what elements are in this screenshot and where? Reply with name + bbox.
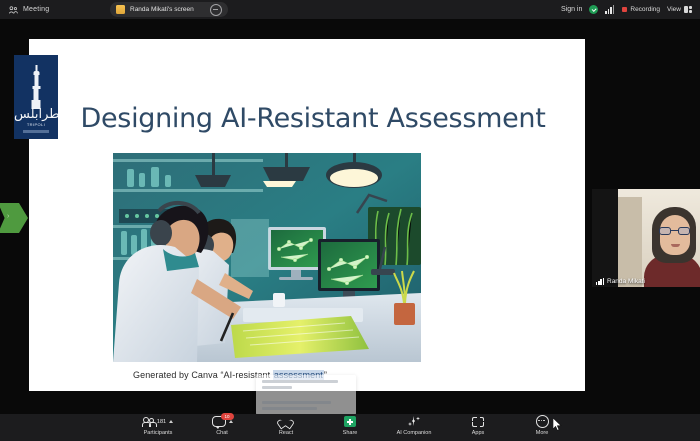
screen-share-icon: [116, 5, 125, 14]
chevron-up-icon[interactable]: [229, 420, 233, 423]
popup-line: [262, 380, 338, 383]
participants-label: Participants: [144, 430, 173, 436]
meeting-control-bar: 181 Participants 10 Chat React: [0, 414, 700, 441]
meeting-label-group: Meeting: [9, 1, 49, 19]
share-screen-icon: [344, 416, 356, 427]
popup-line: [262, 401, 331, 404]
participant-name: Randa Mikati: [607, 278, 645, 285]
share-button[interactable]: Share: [328, 415, 372, 436]
mouse-pointer: [553, 418, 561, 430]
more-icon-wrap: [536, 415, 549, 428]
heart-icon: [280, 417, 292, 427]
university-logo: طرابلس TRIPOLI: [14, 55, 58, 139]
video-left-shadow: [592, 189, 618, 287]
zoom-meeting-window: Meeting Randa Mikati's screen Sign in Re…: [0, 0, 700, 441]
share-label: Share: [343, 430, 358, 436]
record-indicator: [622, 7, 627, 12]
next-slide-arrow[interactable]: ›: [0, 203, 28, 233]
popup-line: [262, 407, 317, 410]
green-shield-check-icon[interactable]: [589, 5, 598, 14]
react-icon-wrap: [280, 415, 292, 428]
ai-companion-button[interactable]: AI Companion: [392, 415, 436, 436]
signal-bars-icon: [596, 278, 604, 285]
screen-share-chip[interactable]: Randa Mikati's screen: [110, 2, 228, 17]
participants-icon: [9, 1, 18, 19]
layout-view-icon: [684, 6, 692, 13]
sign-in-button[interactable]: Sign in: [561, 6, 582, 13]
meeting-label: Meeting: [23, 6, 49, 13]
meeting-top-bar: Meeting Randa Mikati's screen Sign in Re…: [0, 0, 700, 19]
top-bar-right-group: Sign in Recording View: [561, 0, 692, 19]
ai-companion-icon-wrap: [408, 415, 420, 428]
react-button[interactable]: React: [264, 415, 308, 436]
participant-name-bar: Randa Mikati: [592, 275, 645, 287]
meeting-tools: 181 Participants 10 Chat React: [136, 415, 564, 436]
participants-icon: [143, 417, 155, 427]
ai-companion-label: AI Companion: [397, 430, 432, 436]
chat-label: Chat: [216, 430, 228, 436]
logo-divider: [23, 130, 49, 133]
sparkle-icon: [408, 416, 420, 427]
minaret-tower-icon: [32, 65, 41, 109]
logo-arabic-text: طرابلس: [14, 107, 58, 122]
network-signal-icon[interactable]: [605, 5, 615, 14]
page-title: Designing AI-Resistant Assessment: [73, 103, 553, 134]
chevron-up-icon[interactable]: [169, 420, 173, 423]
chat-button[interactable]: 10 Chat: [200, 415, 244, 436]
next-slide-glyph: ›: [7, 213, 9, 220]
caption-prefix: Generated by Canva “AI-resistant: [133, 370, 273, 380]
participants-count: 181: [157, 419, 166, 425]
participant-face: [660, 215, 690, 255]
screen-share-label: Randa Mikati's screen: [130, 6, 210, 13]
participant-video-tile[interactable]: Randa Mikati: [592, 189, 700, 287]
video-door: [616, 197, 642, 287]
participants-button[interactable]: 181 Participants: [136, 415, 180, 436]
popup-line: [262, 386, 292, 389]
shared-screen-stage: طرابلس TRIPOLI Designing AI-Resistant As…: [0, 19, 700, 414]
view-label: View: [667, 6, 681, 13]
share-icon-wrap: [344, 415, 356, 428]
apps-grid-icon: [472, 417, 484, 427]
react-label: React: [279, 430, 293, 436]
recording-indicator[interactable]: Recording: [622, 6, 660, 13]
minus-circle-icon[interactable]: [210, 4, 222, 16]
chat-unread-badge: 10: [221, 413, 234, 420]
participant-glasses: [659, 227, 691, 235]
ai-lab-illustration: [113, 153, 421, 362]
logo-english-text: TRIPOLI: [14, 122, 58, 127]
recording-label: Recording: [630, 6, 660, 13]
more-dots-icon: [536, 415, 549, 428]
participants-icon-wrap: 181: [143, 415, 173, 428]
chat-icon-wrap: 10: [212, 415, 233, 428]
apps-icon-wrap: [472, 415, 484, 428]
apps-button[interactable]: Apps: [456, 415, 500, 436]
view-button[interactable]: View: [667, 6, 692, 13]
presentation-slide: طرابلس TRIPOLI Designing AI-Resistant As…: [29, 39, 585, 391]
apps-label: Apps: [472, 430, 485, 436]
more-label: More: [536, 430, 549, 436]
fading-context-popup: [256, 375, 356, 415]
